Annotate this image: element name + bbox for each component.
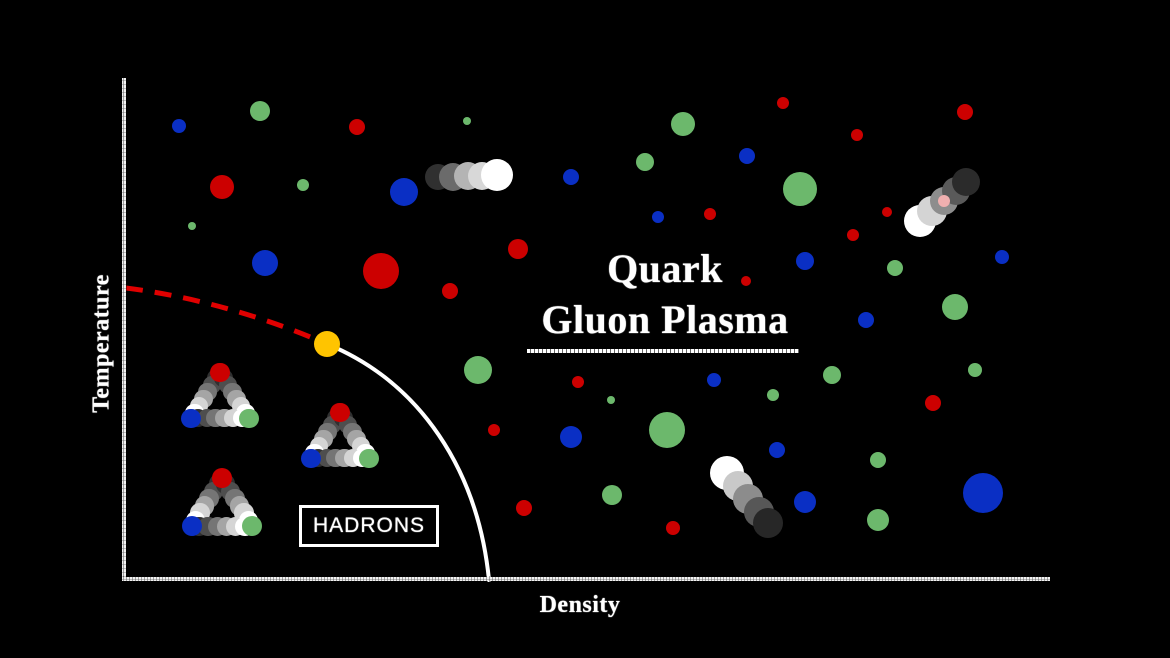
hadron-quark-red [210,363,229,382]
free-quark-green [887,260,903,276]
hadron-quark-blue [301,449,320,468]
free-quark-green [463,117,471,125]
free-quark-green [867,509,889,531]
free-quark-blue [563,169,579,185]
free-quark-green [767,389,779,401]
free-quark-red [847,229,859,241]
y-axis-label: Temperature [89,234,116,454]
free-quark-red [349,119,365,135]
hadron-quark-green [359,449,378,468]
free-quark-green [250,101,270,121]
free-quark-green [870,452,886,468]
free-quark-red [704,208,716,220]
plasma-title-line-1: Quark [500,243,830,294]
free-quark-green [823,366,841,384]
hadrons-region-box: HADRONS [299,505,439,547]
y-axis-line [122,78,126,581]
hadrons-label: HADRONS [313,514,425,538]
free-quark-red [442,283,458,299]
free-quark-red [777,97,789,109]
free-quark-red [488,424,500,436]
gluon-blob [952,168,980,196]
free-quark-green [188,222,196,230]
plasma-region-title: Quark Gluon Plasma [500,243,830,345]
free-quark-blue [252,250,278,276]
hadron-quark-blue [181,409,200,428]
free-quark-blue [794,491,816,513]
free-quark-red [957,104,973,120]
free-quark-blue [858,312,874,328]
hadron-quark-red [330,403,349,422]
plasma-title-underline [527,349,799,353]
free-quark-green [968,363,982,377]
free-quark-red [210,175,234,199]
free-quark-blue [963,473,1003,513]
free-quark-blue [390,178,418,206]
free-quark-green [464,356,492,384]
free-quark-green [649,412,685,448]
free-quark-red [882,207,892,217]
crossover-line [126,288,327,344]
free-quark-green [607,396,615,404]
free-quark-blue [707,373,721,387]
free-quark-green [297,179,309,191]
x-axis-line [122,577,1050,581]
free-quark-blue [652,211,664,223]
hadron-quark-blue [182,516,202,536]
free-quark-blue [172,119,186,133]
hadron-quark-green [239,409,258,428]
free-quark-green [602,485,622,505]
qcd-phase-diagram: Temperature Density Quark Gluon Plasma H… [0,0,1170,658]
free-quark-green [783,172,817,206]
x-axis-label: Density [480,592,680,619]
free-quark-red [572,376,584,388]
hadron-quark-green [242,516,262,536]
free-quark-blue [739,148,755,164]
critical-point [314,331,340,357]
free-quark-green [671,112,695,136]
free-quark-red [363,253,399,289]
free-quark-red [516,500,532,516]
free-quark-blue [769,442,785,458]
free-quark-green [942,294,968,320]
gluon-blob [481,159,513,191]
plasma-title-line-2: Gluon Plasma [500,294,830,345]
free-quark-red [851,129,863,141]
gluon-chain-marker [938,195,950,207]
free-quark-red [666,521,680,535]
free-quark-red [925,395,941,411]
free-quark-blue [995,250,1009,264]
free-quark-blue [560,426,582,448]
gluon-blob [753,508,783,538]
free-quark-green [636,153,654,171]
